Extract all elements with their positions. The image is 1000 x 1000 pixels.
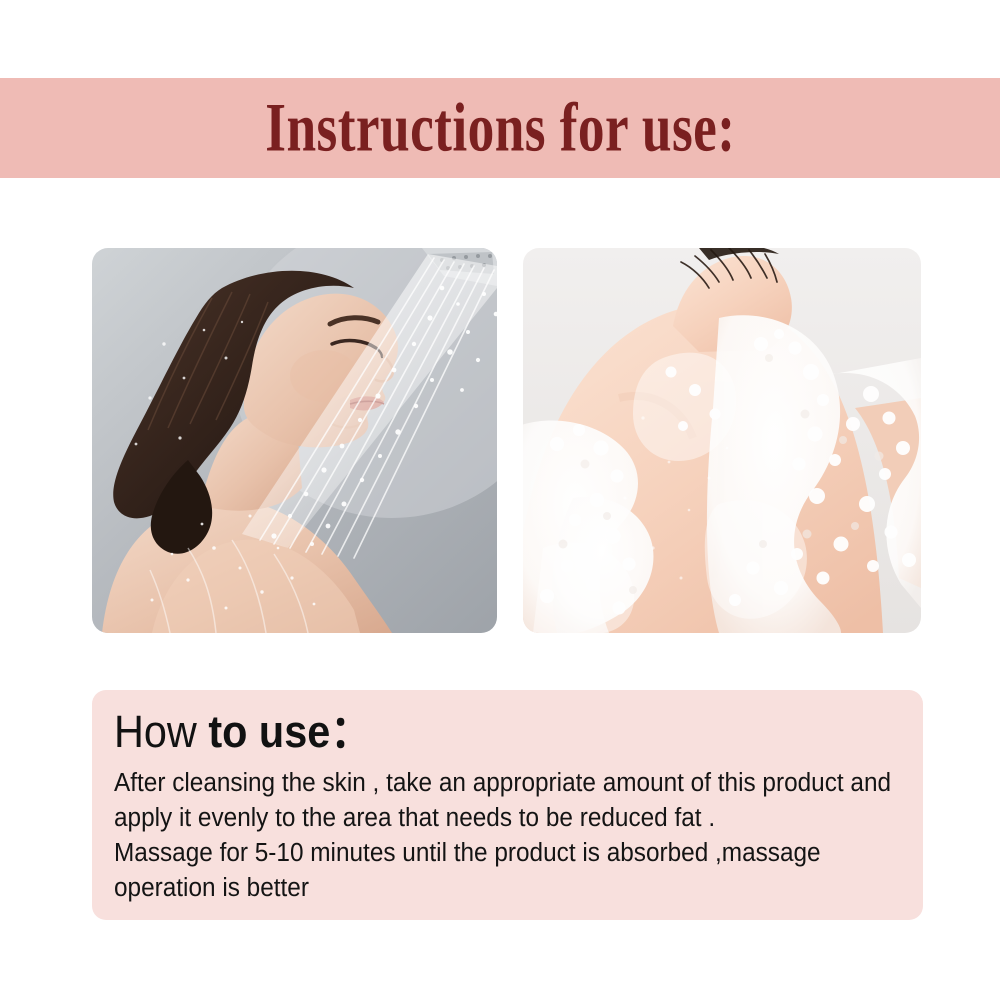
shower-photo-illustration	[92, 248, 497, 633]
heading-word-how: How	[114, 706, 208, 757]
instructions-header-banner: Instructions for use:	[0, 78, 1000, 178]
how-to-use-card: How to use： After cleansing the skin , t…	[92, 690, 923, 920]
how-to-use-heading: How to use：	[114, 704, 838, 760]
photo-row	[92, 248, 921, 633]
how-to-use-body: After cleansing the skin , take an appro…	[114, 766, 866, 906]
instruction-line: After cleansing the skin , take an appro…	[114, 766, 866, 801]
heading-word-to-use: to use：	[208, 706, 371, 757]
instruction-line: apply it evenly to the area that needs t…	[114, 801, 866, 836]
foam-photo	[523, 248, 921, 633]
shower-photo	[92, 248, 497, 633]
foam-photo-illustration	[523, 248, 921, 633]
instruction-line: Massage for 5-10 minutes until the produ…	[114, 836, 866, 871]
page-title: Instructions for use:	[265, 93, 735, 162]
instruction-line: operation is better	[114, 871, 866, 906]
